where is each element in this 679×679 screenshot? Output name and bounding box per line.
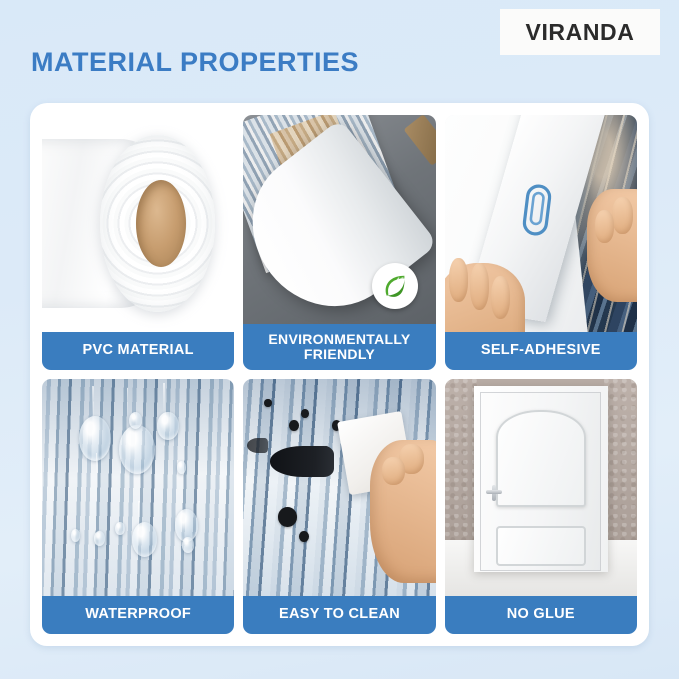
waterproof-image	[42, 379, 234, 596]
feature-tile-easy-to-clean[interactable]: EASY TO CLEAN	[243, 379, 435, 634]
feature-label-environmentally-friendly: ENVIRONMENTALLY FRIENDLY	[243, 324, 435, 370]
feature-label-pvc-material: PVC MATERIAL	[42, 332, 234, 370]
feature-label-no-glue: NO GLUE	[445, 596, 637, 634]
brand-logo: VIRANDA	[500, 9, 660, 55]
eco-leaf-badge	[372, 263, 418, 309]
feature-tile-no-glue[interactable]: NO GLUE	[445, 379, 637, 634]
easy-to-clean-image	[243, 379, 435, 596]
feature-card: PVC MATERIAL	[30, 103, 649, 646]
feature-grid: PVC MATERIAL	[42, 115, 637, 634]
page-header: MATERIAL PROPERTIES VIRANDA	[0, 0, 679, 103]
self-adhesive-image	[445, 115, 637, 332]
feature-label-waterproof: WATERPROOF	[42, 596, 234, 634]
no-glue-image	[445, 379, 637, 596]
brand-logo-text: VIRANDA	[526, 19, 635, 46]
feature-label-easy-to-clean: EASY TO CLEAN	[243, 596, 435, 634]
page-title: MATERIAL PROPERTIES	[31, 47, 359, 78]
pvc-material-image	[42, 115, 234, 332]
feature-label-line-2: FRIENDLY	[304, 346, 375, 362]
environmentally-friendly-image	[243, 115, 435, 324]
leaf-icon	[380, 271, 410, 301]
feature-tile-self-adhesive[interactable]: SELF-ADHESIVE	[445, 115, 637, 370]
feature-tile-pvc-material[interactable]: PVC MATERIAL	[42, 115, 234, 370]
feature-label-self-adhesive: SELF-ADHESIVE	[445, 332, 637, 370]
door-handle-icon	[486, 485, 502, 501]
feature-tile-waterproof[interactable]: WATERPROOF	[42, 379, 234, 634]
feature-tile-environmentally-friendly[interactable]: ENVIRONMENTALLY FRIENDLY	[243, 115, 435, 370]
paperclip-icon	[518, 181, 555, 240]
feature-label-line-1: ENVIRONMENTALLY	[268, 331, 410, 347]
